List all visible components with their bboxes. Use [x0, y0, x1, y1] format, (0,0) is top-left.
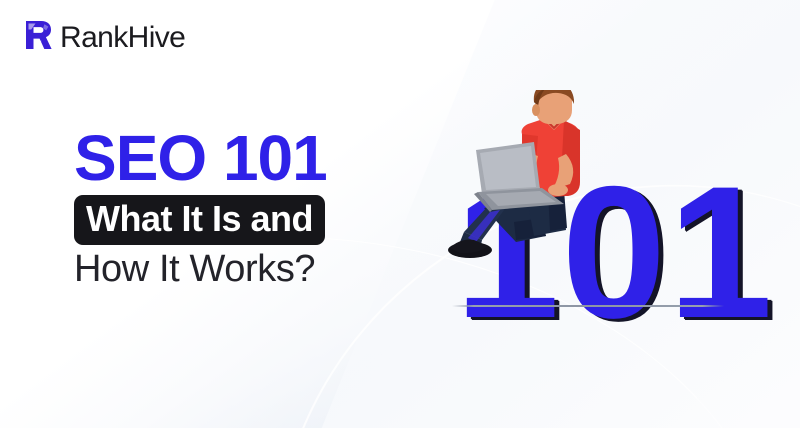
seo-101-banner: RankHive SEO 101 What It Is and How It W… — [0, 0, 800, 428]
headline-line-banner-text: What It Is and — [86, 201, 313, 237]
headline-line-banner: What It Is and — [74, 195, 325, 245]
headline-line-seo: SEO 101 — [74, 128, 404, 189]
headline-block: SEO 101 What It Is and How It Works? — [74, 128, 404, 289]
brand-name: RankHive — [60, 23, 185, 53]
head — [532, 90, 574, 124]
person-sitting-with-laptop-illustration — [430, 90, 760, 330]
headline-line-question: How It Works? — [74, 250, 404, 289]
brand-logo[interactable]: RankHive — [22, 18, 185, 57]
rankhive-r-mark-icon — [22, 18, 56, 57]
shoe-icon — [448, 240, 492, 258]
